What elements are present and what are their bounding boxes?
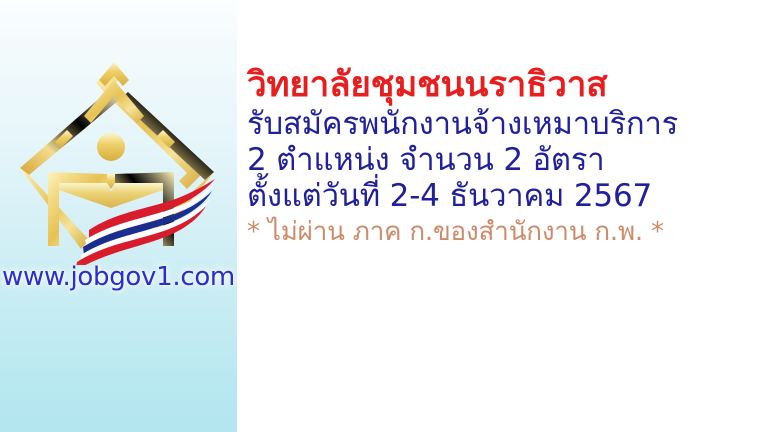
application-dates-line: ตั้งแต่วันที่ 2-4 ธันวาคม 2567	[247, 181, 767, 212]
college-logo	[11, 50, 226, 265]
announcement-text-panel: วิทยาลัยชุมชนนราธิวาส รับสมัครพนักงานจ้า…	[237, 0, 768, 432]
college-name-heading: วิทยาลัยชุมชนนราธิวาส	[247, 68, 767, 103]
exam-exemption-note: * ไม่ผ่าน ภาค ก.ของสำนักงาน ก.พ. *	[247, 219, 767, 245]
announcement-headline-block: วิทยาลัยชุมชนนราธิวาส รับสมัครพนักงานจ้า…	[247, 68, 767, 245]
positions-count-line: 2 ตำแหน่ง จำนวน 2 อัตรา	[247, 145, 767, 176]
logo-panel: www.jobgov1.com	[0, 0, 237, 432]
recruitment-line: รับสมัครพนักงานจ้างเหมาบริการ	[247, 109, 767, 140]
logo-person-head	[97, 133, 125, 161]
site-url-label: www.jobgov1.com	[0, 262, 237, 292]
job-announcement-banner: www.jobgov1.com วิทยาลัยชุมชนนราธิวาส รั…	[0, 0, 768, 432]
